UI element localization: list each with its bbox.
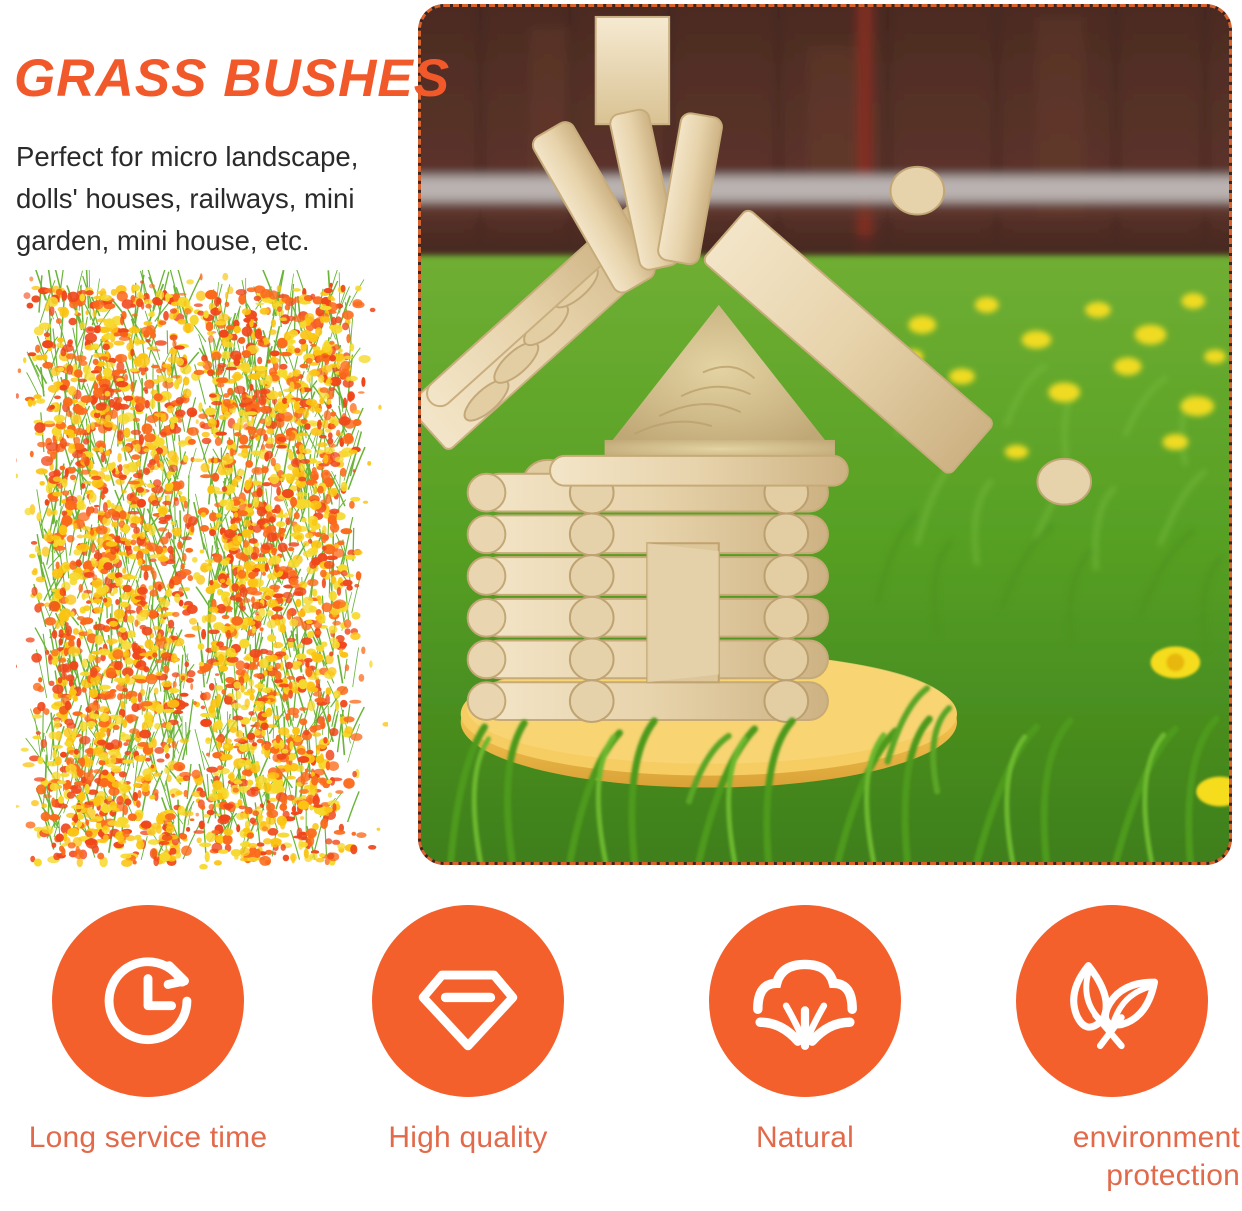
- feature-badge: [1016, 905, 1208, 1097]
- grass-bushes-product-image: [16, 270, 388, 870]
- feature-label: Natural: [655, 1119, 955, 1157]
- dowel-peg: [1037, 459, 1091, 505]
- feature-label: High quality: [318, 1119, 618, 1157]
- feature-environment-protection: environmentprotection: [962, 905, 1242, 1196]
- log-cabin-scene: [421, 7, 1229, 862]
- feature-label: environmentprotection: [962, 1119, 1242, 1196]
- diamond-icon: [409, 942, 527, 1060]
- dowel-peg: [891, 167, 945, 215]
- feature-badge: [52, 905, 244, 1097]
- feature-high-quality: High quality: [318, 905, 618, 1157]
- page-title: GRASS BUSHES: [14, 48, 450, 109]
- feature-badge: [372, 905, 564, 1097]
- page-description: Perfect for micro landscape, dolls' hous…: [16, 136, 396, 261]
- cabin-door: [647, 543, 718, 682]
- feature-long-service-time: Long service time: [0, 905, 298, 1157]
- clock-rotate-icon: [89, 942, 207, 1060]
- feature-strip: Long service time High quality Natural: [0, 905, 1242, 1211]
- cotton-plant-icon: [746, 942, 864, 1060]
- feature-label: Long service time: [0, 1119, 298, 1157]
- top-ridge-log: [550, 456, 848, 486]
- feature-badge: [709, 905, 901, 1097]
- feature-natural: Natural: [655, 905, 955, 1157]
- hero-product-photo: [418, 4, 1232, 865]
- two-leaves-icon: [1053, 942, 1171, 1060]
- grass-bushes-illustration: [16, 270, 388, 870]
